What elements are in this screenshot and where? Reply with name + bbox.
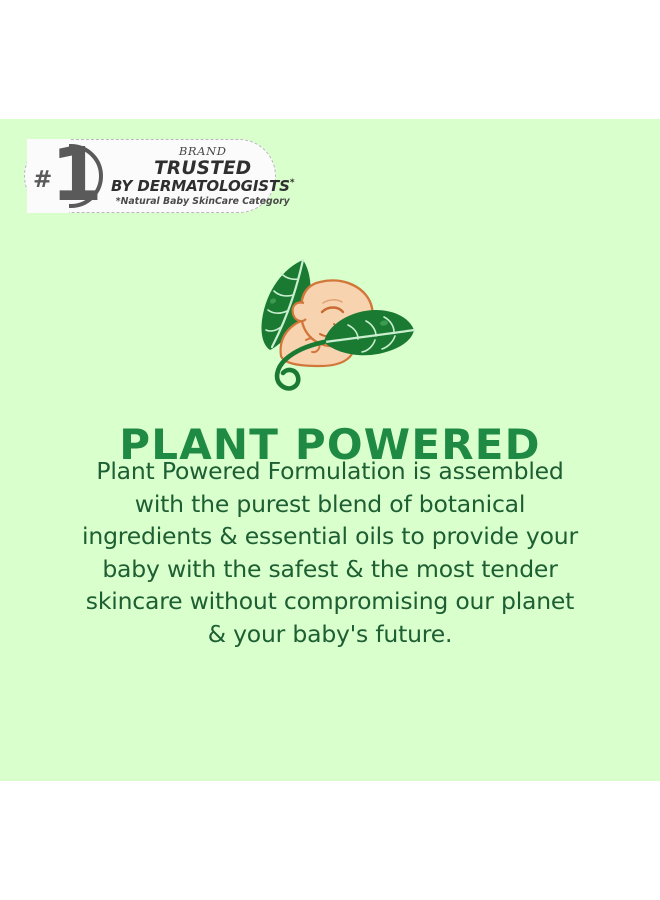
badge-rank-number: 1 [51, 138, 100, 212]
body-line: baby with the safest & the most tender [60, 553, 600, 586]
badge-text-block: BRAND TRUSTED BY DERMATOLOGISTS* *Natura… [111, 146, 306, 206]
badge-footnote: *Natural Baby SkinCare Category [111, 197, 294, 207]
badge-trusted-label: TRUSTED [111, 159, 294, 178]
body-line: with the purest blend of botanical [60, 488, 600, 521]
badge-dermatologists-text: BY DERMATOLOGISTS [111, 177, 290, 195]
baby-on-leaves-logo [248, 246, 424, 396]
body-line: ingredients & essential oils to provide … [60, 520, 600, 553]
body-line: skincare without compromising our planet [60, 585, 600, 618]
badge-hash-symbol: # [33, 169, 51, 192]
badge-rank-mark: # 1 [25, 139, 111, 213]
body-line: & your baby's future. [60, 618, 600, 651]
badge-brand-label: BRAND [111, 146, 294, 158]
badge-asterisk: * [290, 178, 295, 188]
body-line: Plant Powered Formulation is assembled [60, 455, 600, 488]
trust-badge: # 1 BRAND TRUSTED BY DERMATOLOGISTS* *Na… [24, 139, 276, 213]
badge-dermatologists-label: BY DERMATOLOGISTS* [111, 179, 294, 195]
body-copy: Plant Powered Formulation is assembled w… [60, 455, 600, 650]
